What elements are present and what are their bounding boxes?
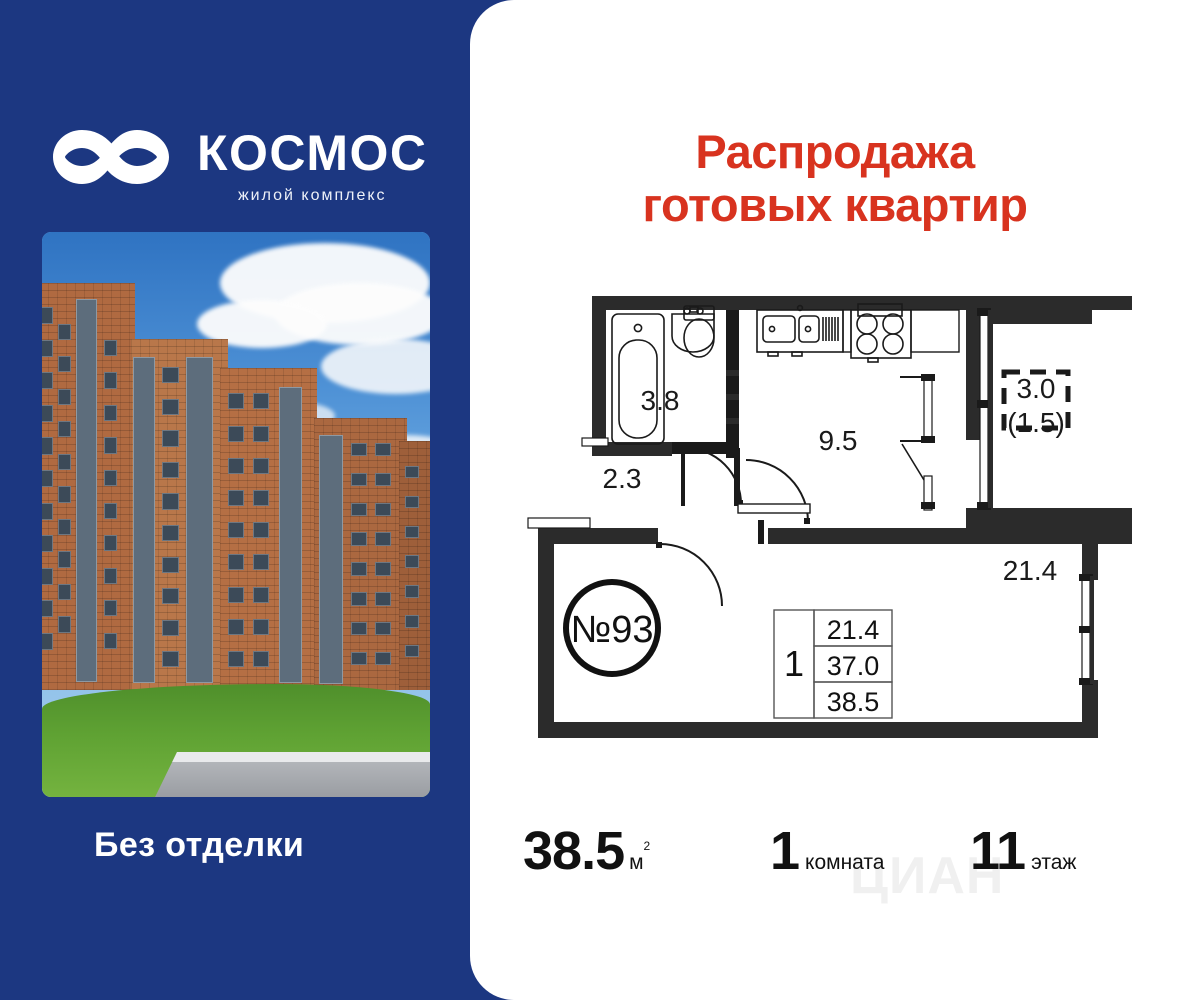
floorplan: 3.8 2.3 9.5 3.0 (1.5) 21.4 №93 1 [520,280,1160,780]
road [155,752,430,797]
window-grid [42,283,135,690]
balcony-door [900,374,935,510]
wall-right-lower-bottom [1082,680,1098,738]
stat-area-value: 38.5 [523,824,624,878]
legend-rooms-count: 1 [784,643,804,684]
legend-area-no-balcony: 37.0 [827,651,880,681]
residential-complex-photo [42,232,430,797]
sink-icon [672,307,714,352]
wall-mid-right [966,520,1132,544]
bathtub-icon [612,314,664,444]
building [220,368,317,690]
stat-area: 38.5 м2 [523,824,644,878]
stat-area-unit-sup: 2 [644,839,651,853]
page-title: Распродажа готовых квартир [470,126,1200,231]
wall-mid [768,528,982,544]
balcony-counted-area: (1.5) [1007,407,1065,438]
headline-line-2: готовых квартир [470,179,1200,232]
apartment-number-badge: №93 [566,582,658,674]
wall-lower-top-left [538,528,658,544]
window-grid [131,339,228,689]
kitchen-sink-icon [757,306,843,356]
stat-floor: 11 этаж [970,824,1076,878]
apartment-number-label: №93 [570,609,653,651]
balcony-area: 3.0 [1017,373,1056,404]
stat-area-unit-label: м [629,851,643,874]
stat-floor-value: 11 [970,824,1025,878]
infinity-loop-icon [47,122,175,192]
wall-bottom [538,722,1098,738]
wall-left-upper [592,296,606,456]
left-brand-panel: КОСМОС жилой комплекс [0,0,470,1000]
finish-caption: Без отделки [94,826,304,865]
wall-right-lower-top [1082,528,1098,580]
wall-kitchen-right [966,310,980,440]
stat-rooms-label: комната [805,851,884,875]
bath-door-jamb [672,442,728,454]
brand-name: КОСМОС [197,128,428,178]
building [131,339,228,689]
stat-floor-label: этаж [1031,851,1076,875]
legend-living-area: 21.4 [827,615,880,645]
room-area-main: 21.4 [1003,555,1058,586]
window-grid [314,418,407,689]
stove-icon [851,304,911,362]
building [42,283,135,690]
stat-area-unit: м2 [629,851,643,875]
building [399,441,430,690]
brand-logo: КОСМОС жилой комплекс [47,122,428,205]
room-area-hallway: 2.3 [603,463,642,494]
listing-stats: 38.5 м2 1 комната 11 этаж [470,806,1200,896]
brand-tagline: жилой комплекс [197,187,428,205]
headline-line-1: Распродажа [470,126,1200,179]
window-grid [220,368,317,690]
stat-rooms: 1 комната [770,824,884,878]
stat-rooms-value: 1 [770,824,799,878]
legend-total-area: 38.5 [827,687,880,717]
room-area-bathroom: 3.8 [641,385,680,416]
room-area-kitchen: 9.5 [819,425,858,456]
floorplan-svg: 3.8 2.3 9.5 3.0 (1.5) 21.4 №93 1 [520,280,1160,780]
wall-left-lower [538,528,554,736]
window-grid [399,441,430,690]
building [314,418,407,689]
